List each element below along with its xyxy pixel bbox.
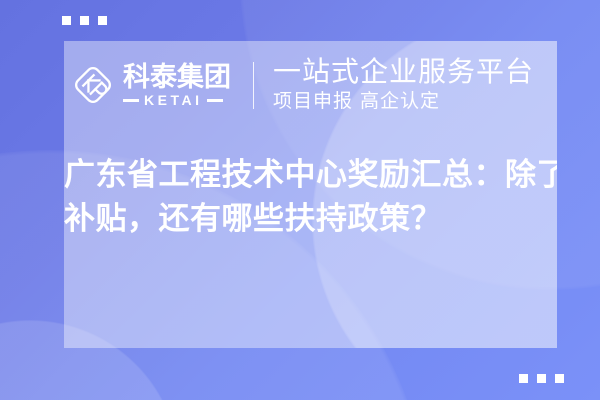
decorative-dots-bottom-right [519, 374, 564, 383]
brand-name-en-row: KETAI [123, 93, 231, 107]
slogan-block: 一站式企业服务平台 项目申报 高企认定 [273, 57, 534, 114]
slogan-sub: 项目申报 高企认定 [273, 90, 534, 114]
wordmark-rule-right [207, 99, 223, 102]
dot-square [62, 16, 71, 25]
wordmark: 科泰集团 KETAI [123, 64, 231, 108]
brand-name-cn: 科泰集团 [123, 64, 231, 92]
content-panel: 科泰集团 KETAI 一站式企业服务平台 项目申报 高企认定 广东省工程技术中心… [64, 41, 557, 348]
decorative-dots-top-left [62, 16, 107, 25]
brand-name-en: KETAI [144, 93, 202, 107]
brand-logo[interactable]: 科泰集团 KETAI [70, 62, 231, 108]
dot-square [80, 16, 89, 25]
dot-square [519, 374, 528, 383]
promo-banner: 科泰集团 KETAI 一站式企业服务平台 项目申报 高企认定 广东省工程技术中心… [0, 0, 600, 400]
dot-square [537, 374, 546, 383]
headline-title: 广东省工程技术中心奖励汇总：除了补贴，还有哪些扶持政策？ [64, 153, 557, 241]
vertical-divider [253, 62, 254, 109]
dot-square [555, 374, 564, 383]
ketai-diamond-kp-logo-icon [70, 62, 116, 108]
wordmark-rule-left [123, 99, 139, 102]
brand-row: 科泰集团 KETAI 一站式企业服务平台 项目申报 高企认定 [70, 49, 534, 121]
slogan-main: 一站式企业服务平台 [273, 57, 534, 88]
dot-square [98, 16, 107, 25]
